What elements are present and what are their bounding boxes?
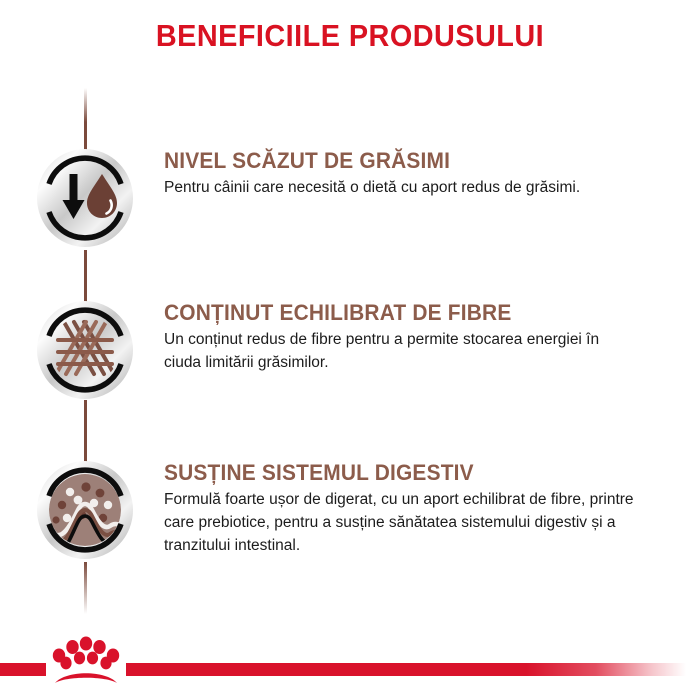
benefit-body: Un conținut redus de fibre pentru a perm… xyxy=(164,328,634,374)
benefit-body: Formulă foarte ușor de digerat, cu un ap… xyxy=(164,488,634,557)
timeline-segment-top xyxy=(84,88,87,150)
benefits-infographic: BENEFICIILE PRODUSULUI xyxy=(0,0,700,700)
timeline-segment-bottom xyxy=(84,562,87,614)
digestive-icon xyxy=(36,460,134,560)
benefit-text-block: NIVEL SCĂZUT DE GRĂSIMI Pentru câinii ca… xyxy=(164,148,664,199)
fibre-icon xyxy=(36,300,134,400)
footer-bar-right xyxy=(126,663,700,676)
benefit-heading: SUSȚINE SISTEMUL DIGESTIV xyxy=(164,460,639,485)
benefit-body: Pentru câinii care necesită o dietă cu a… xyxy=(164,176,634,199)
benefit-text-block: SUSȚINE SISTEMUL DIGESTIV Formulă foarte… xyxy=(164,460,664,557)
fat-reduction-icon xyxy=(36,148,134,248)
benefit-heading: NIVEL SCĂZUT DE GRĂSIMI xyxy=(164,148,639,173)
page-title: BENEFICIILE PRODUSULUI xyxy=(25,18,676,54)
royal-canin-crown-logo xyxy=(46,636,126,688)
benefit-heading: CONȚINUT ECHILIBRAT DE FIBRE xyxy=(164,300,639,325)
timeline-segment-middle-1 xyxy=(84,250,87,302)
footer-bar-left xyxy=(0,663,46,676)
timeline-segment-middle-2 xyxy=(84,400,87,462)
benefit-text-block: CONȚINUT ECHILIBRAT DE FIBRE Un conținut… xyxy=(164,300,664,374)
